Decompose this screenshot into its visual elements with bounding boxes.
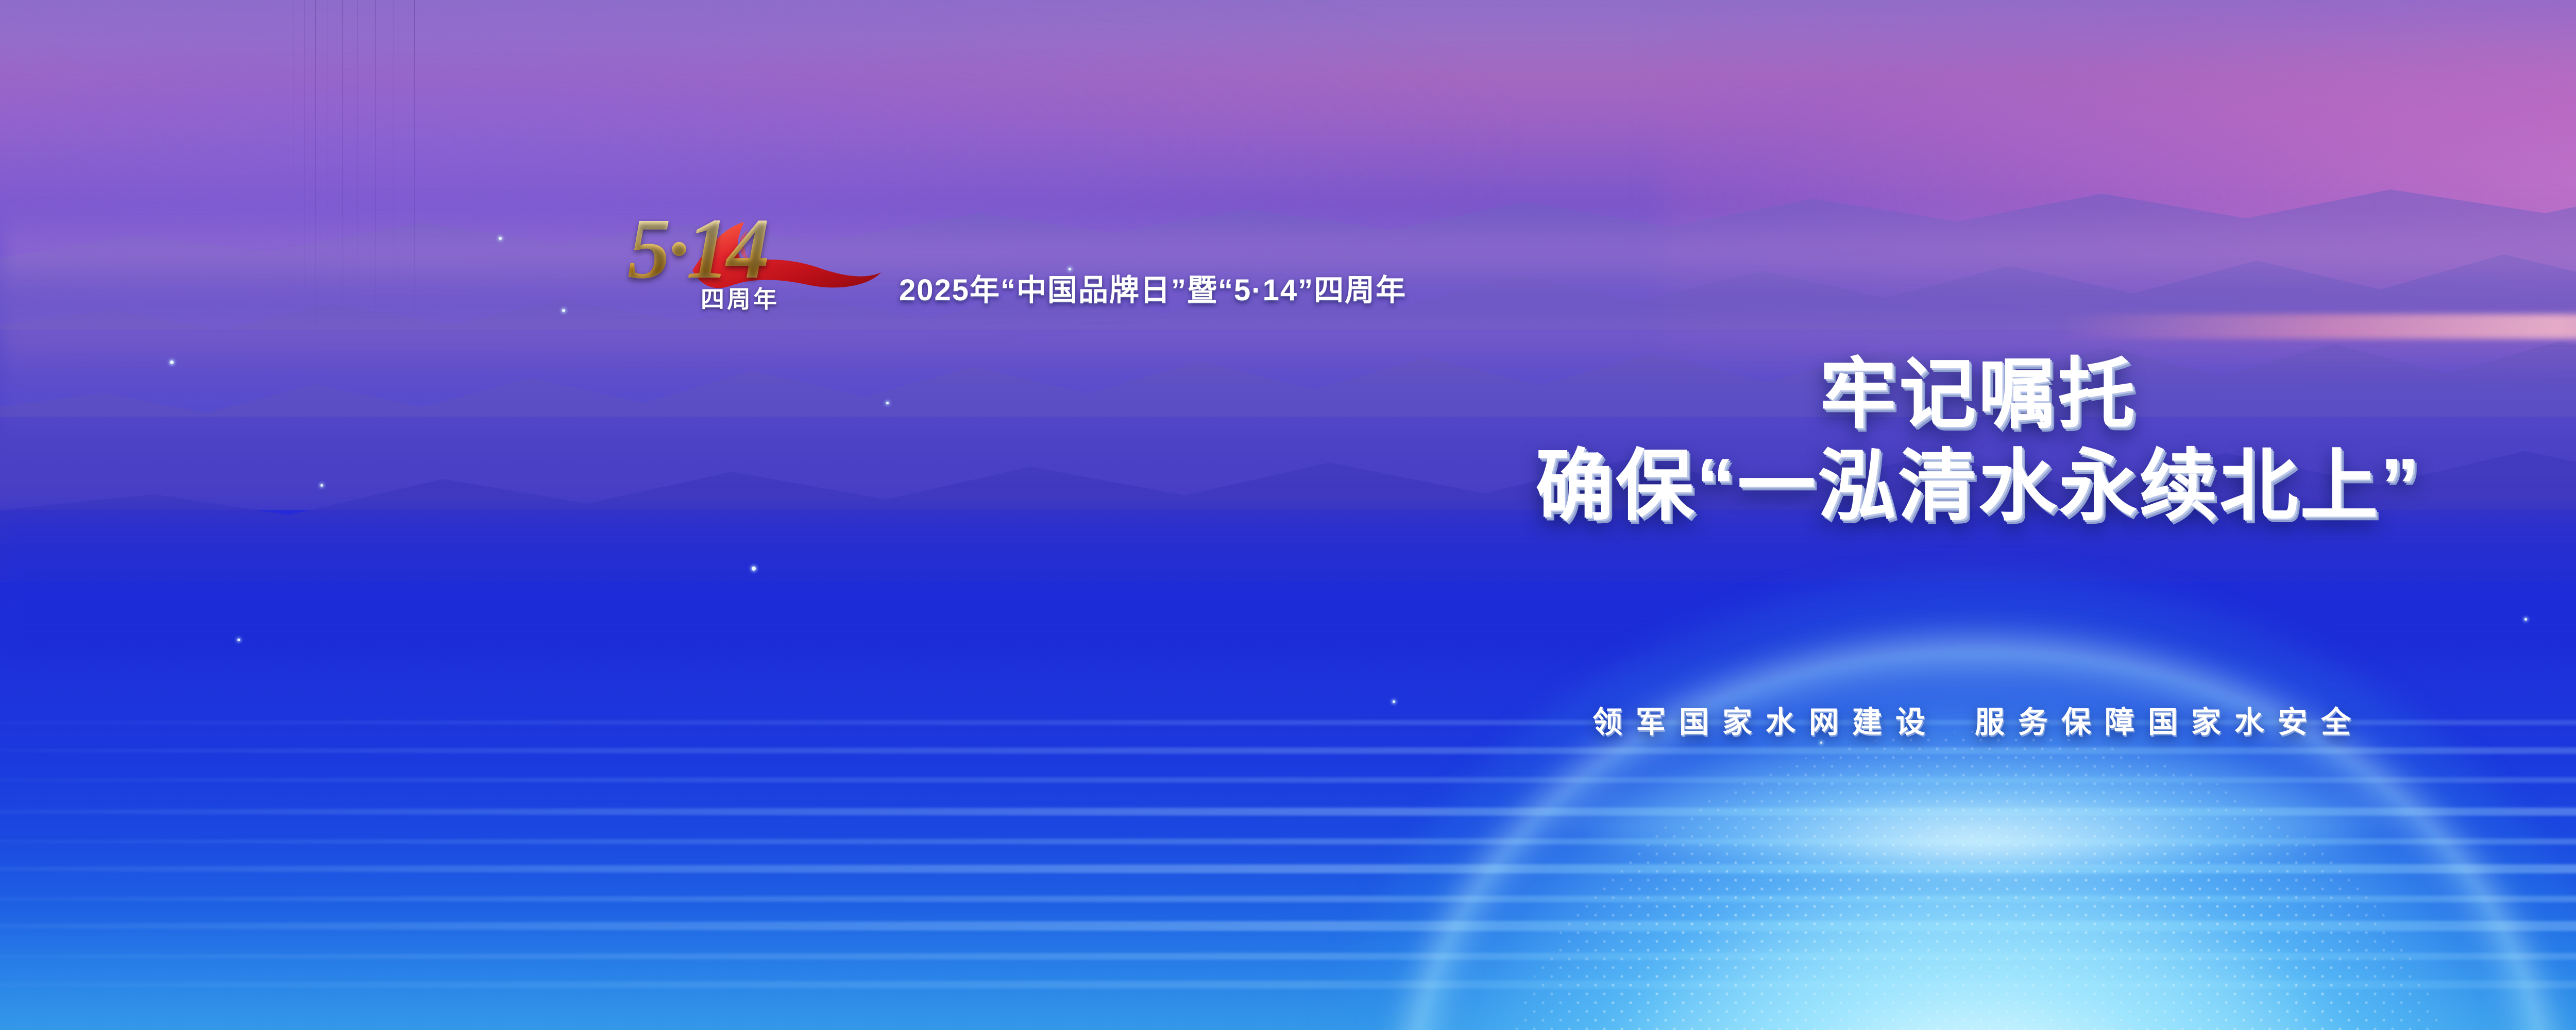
banner-stage: 5·14 四周年 2025年“中国品牌日”暨“5·14”四周年 中国南水北调 [0, 0, 2576, 1030]
headline-line-2: 确保“一泓清水永续北上” [0, 447, 2576, 525]
headline-block: 牢记嘱托 确保“一泓清水永续北上” [0, 355, 2576, 525]
anniversary-logo: 5·14 四周年 [628, 203, 870, 327]
sub-slogan-part-2: 服务保障国家水安全 [1975, 706, 2364, 739]
anniversary-label: 四周年 [701, 281, 779, 315]
sub-slogan-part-1: 领军国家水网建设 [1592, 706, 1939, 739]
event-title: 2025年“中国品牌日”暨“5·14”四周年 [899, 266, 1406, 309]
sub-slogan: 领军国家水网建设服务保障国家水安全 [0, 698, 2576, 741]
headline-line-1: 牢记嘱托 [0, 355, 2576, 433]
